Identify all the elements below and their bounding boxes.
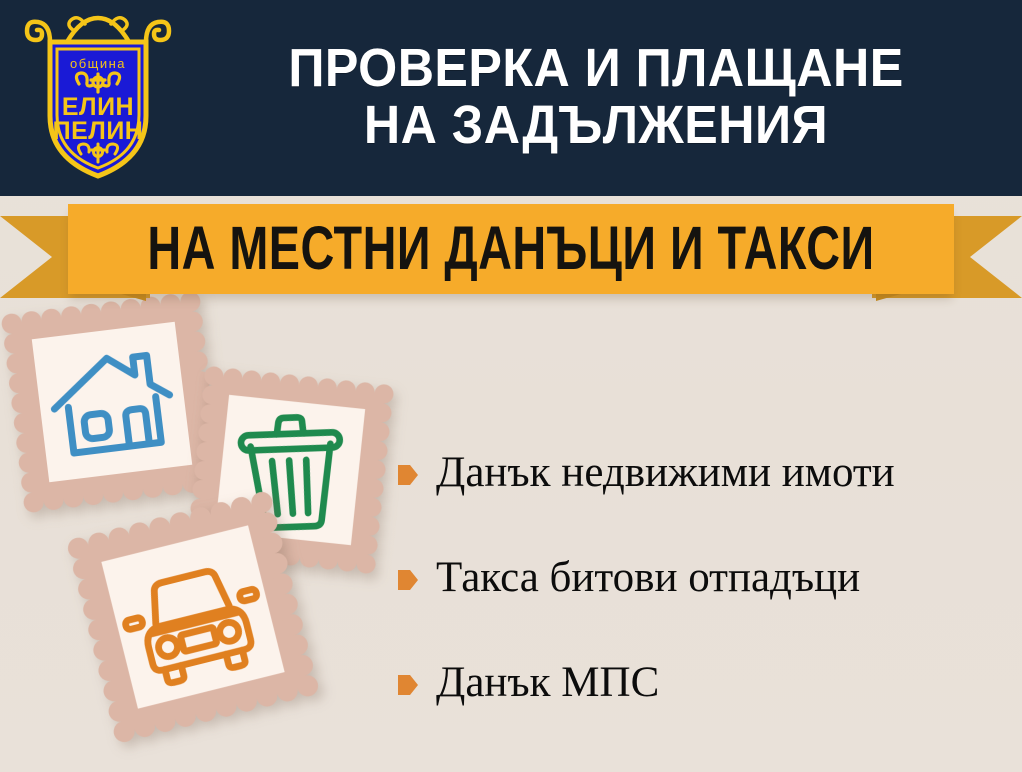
list-item[interactable]: Такса битови отпадъци: [398, 525, 1010, 630]
list-item-label: Данък МПС: [436, 661, 659, 704]
tax-type-list: Данък недвижими имоти Такса битови отпад…: [398, 420, 1010, 735]
title-line-2: НА ЗАДЪЛЖЕНИЯ: [224, 97, 968, 154]
ribbon-label: НА МЕСТНИ ДАНЪЦИ И ТАКСИ: [112, 196, 909, 302]
svg-text:община: община: [70, 56, 126, 71]
page-title: ПРОВЕРКА И ПЛАЩАНЕ НА ЗАДЪЛЖЕНИЯ: [196, 40, 1022, 156]
list-item[interactable]: Данък МПС: [398, 630, 1010, 735]
stamp-property: [1, 291, 224, 514]
list-item[interactable]: Данък недвижими имоти: [398, 420, 1010, 525]
poster-header: община ЕЛИН ПЕЛИН: [0, 0, 1022, 196]
list-item-label: Такса битови отпадъци: [436, 556, 860, 599]
municipality-crest: община ЕЛИН ПЕЛИН: [0, 0, 196, 196]
list-item-label: Данък недвижими имоти: [436, 451, 895, 494]
subtitle-ribbon: НА МЕСТНИ ДАНЪЦИ И ТАКСИ: [0, 196, 1022, 304]
svg-text:ПЕЛИН: ПЕЛИН: [53, 117, 144, 145]
arrow-bullet-icon: [398, 673, 418, 697]
ribbon-band: НА МЕСТНИ ДАНЪЦИ И ТАКСИ: [68, 204, 954, 294]
arrow-bullet-icon: [398, 568, 418, 592]
arrow-bullet-icon: [398, 463, 418, 487]
poster-canvas: община ЕЛИН ПЕЛИН: [0, 0, 1022, 772]
title-line-1: ПРОВЕРКА И ПЛАЩАНЕ: [224, 40, 968, 97]
